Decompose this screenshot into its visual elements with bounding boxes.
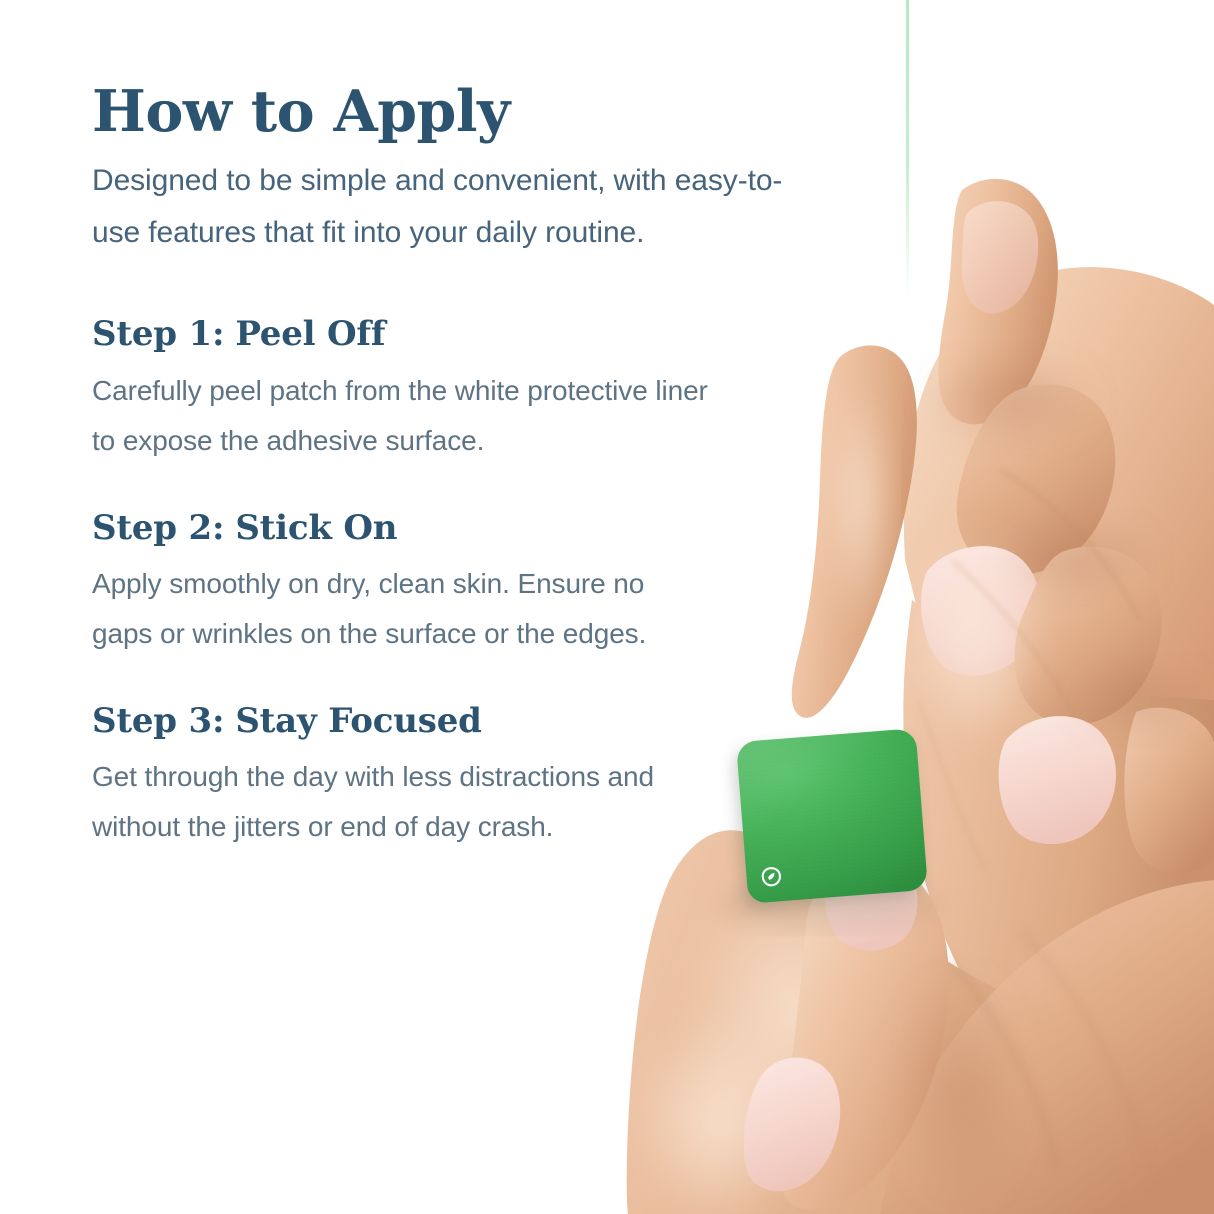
step-1-block: Step 1:Peel Off Carefully peel patch fro…	[92, 316, 792, 465]
hand-icon	[792, 179, 1214, 1040]
step-3-block: Step 3:Stay Focused Get through the day …	[92, 703, 792, 852]
step-2-body: Apply smoothly on dry, clean skin. Ensur…	[92, 559, 712, 659]
step-3-name: Stay Focused	[235, 701, 481, 741]
step-2-name: Stick On	[235, 508, 397, 548]
step-1-heading: Step 1:Peel Off	[92, 316, 792, 353]
pressing-hand-icon	[744, 850, 1214, 1214]
step-1-name: Peel Off	[235, 314, 385, 354]
heart-leaf-icon	[758, 864, 786, 890]
step-2-block: Step 2:Stick On Apply smoothly on dry, c…	[92, 510, 792, 659]
step-3-label: Step 3:	[92, 701, 224, 741]
step-3-heading: Step 3:Stay Focused	[92, 703, 792, 740]
text-column: How to Apply Designed to be simple and c…	[92, 82, 792, 852]
infographic-page: How to Apply Designed to be simple and c…	[0, 0, 1214, 1214]
page-title: How to Apply	[92, 82, 792, 141]
step-3-body: Get through the day with less distractio…	[92, 752, 712, 852]
step-1-label: Step 1:	[92, 314, 224, 354]
step-1-body: Carefully peel patch from the white prot…	[92, 366, 712, 466]
step-2-label: Step 2:	[92, 508, 224, 548]
step-2-heading: Step 2:Stick On	[92, 510, 792, 547]
intro-paragraph: Designed to be simple and convenient, wi…	[92, 155, 792, 258]
vertical-accent-line	[906, 0, 909, 300]
